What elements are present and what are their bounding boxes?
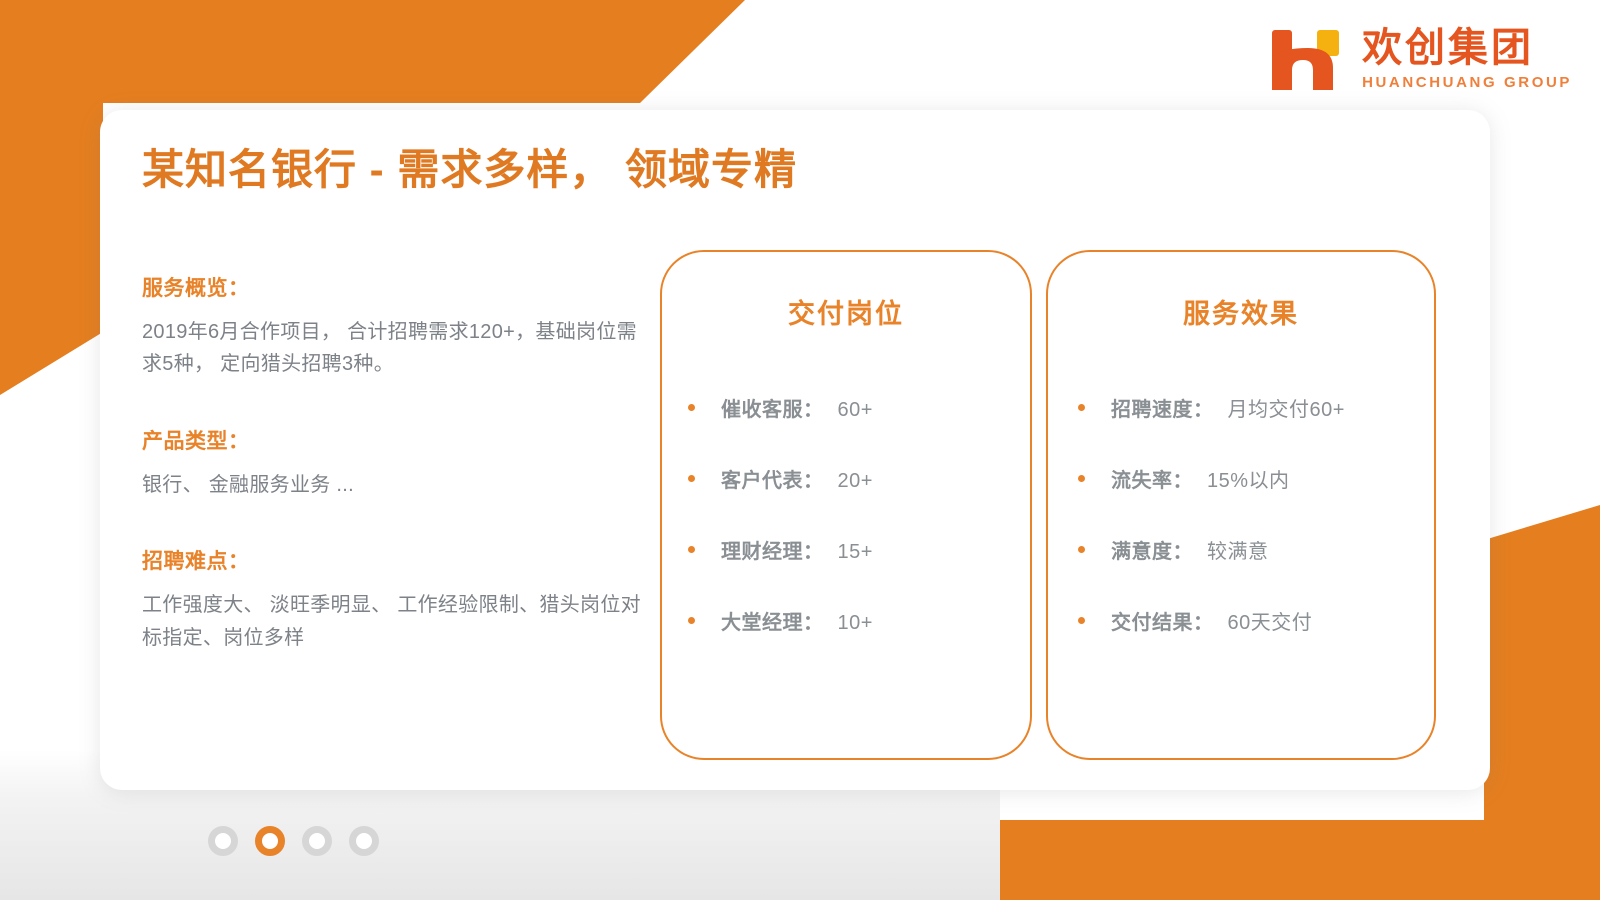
pagination-dot-4[interactable] [349, 826, 379, 856]
list-item: 流失率： 15%以内 [1078, 464, 1434, 493]
list-item: 客户代表： 20+ [688, 464, 1030, 493]
bullet-icon [688, 546, 695, 553]
panel-item-list: 催收客服： 60+ 客户代表： 20+ 理财经理： 15+ 大堂经理： 10+ [662, 393, 1030, 635]
list-item: 催收客服： 60+ [688, 393, 1030, 422]
info-block-recruit-difficulty: 招聘难点： 工作强度大、 淡旺季明显、 工作经验限制、猎头岗位对标指定、岗位多样 [142, 545, 652, 654]
page-title: 某知名银行 - 需求多样， 领域专精 [142, 136, 797, 197]
bullet-icon [688, 404, 695, 411]
item-key: 流失率： [1111, 464, 1193, 493]
panel-title: 服务效果 [1048, 292, 1434, 331]
list-item: 大堂经理： 10+ [688, 606, 1030, 635]
bullet-icon [1078, 475, 1085, 482]
pagination-dot-1[interactable] [208, 826, 238, 856]
pagination-dots[interactable] [208, 826, 379, 856]
list-item: 交付结果： 60天交付 [1078, 606, 1434, 635]
item-value: 15%以内 [1207, 464, 1290, 493]
logo-name-cn: 欢创集团 [1362, 28, 1534, 68]
slide-root: 欢创集团 HUANCHUANG GROUP 某知名银行 - 需求多样， 领域专精… [0, 0, 1600, 900]
item-value: 10+ [838, 612, 873, 635]
item-key: 客户代表： [721, 464, 824, 493]
info-column: 服务概览： 2019年6月合作项目， 合计招聘需求120+，基础岗位需求5种， … [142, 272, 652, 654]
bullet-icon [1078, 404, 1085, 411]
logo-name-en: HUANCHUANG GROUP [1362, 75, 1572, 90]
item-value: 月均交付60+ [1228, 393, 1345, 422]
info-text: 工作强度大、 淡旺季明显、 工作经验限制、猎头岗位对标指定、岗位多样 [142, 589, 652, 654]
brand-logo: 欢创集团 HUANCHUANG GROUP [1270, 26, 1572, 92]
info-label: 招聘难点： [142, 545, 652, 575]
logo-wordmark: 欢创集团 HUANCHUANG GROUP [1362, 28, 1572, 90]
info-label: 产品类型： [142, 425, 652, 455]
list-item: 满意度： 较满意 [1078, 535, 1434, 564]
item-value: 60天交付 [1228, 606, 1313, 635]
item-key: 理财经理： [721, 535, 824, 564]
huanchuang-h-mark-icon [1270, 26, 1348, 92]
info-block-service-overview: 服务概览： 2019年6月合作项目， 合计招聘需求120+，基础岗位需求5种， … [142, 272, 652, 381]
bullet-icon [688, 617, 695, 624]
bullet-icon [1078, 617, 1085, 624]
item-key: 催收客服： [721, 393, 824, 422]
pagination-dot-3[interactable] [302, 826, 332, 856]
item-key: 交付结果： [1111, 606, 1214, 635]
info-text: 银行、 金融服务业务 ... [142, 469, 652, 501]
item-key: 招聘速度： [1111, 393, 1214, 422]
panel-title: 交付岗位 [662, 292, 1030, 331]
bullet-icon [1078, 546, 1085, 553]
info-label: 服务概览： [142, 272, 652, 302]
bullet-icon [688, 475, 695, 482]
info-block-product-type: 产品类型： 银行、 金融服务业务 ... [142, 425, 652, 501]
shape-left-orange-column [0, 0, 103, 395]
item-value: 较满意 [1207, 535, 1269, 564]
item-key: 满意度： [1111, 535, 1193, 564]
item-key: 大堂经理： [721, 606, 824, 635]
item-value: 20+ [838, 470, 873, 493]
panel-delivered-positions: 交付岗位 催收客服： 60+ 客户代表： 20+ 理财经理： 15+ 大堂经理：… [660, 250, 1032, 760]
list-item: 招聘速度： 月均交付60+ [1078, 393, 1434, 422]
pagination-dot-2[interactable] [255, 826, 285, 856]
item-value: 15+ [838, 541, 873, 564]
shape-top-left-orange [0, 0, 745, 103]
list-item: 理财经理： 15+ [688, 535, 1030, 564]
item-value: 60+ [838, 399, 873, 422]
panel-item-list: 招聘速度： 月均交付60+ 流失率： 15%以内 满意度： 较满意 交付结果： … [1048, 393, 1434, 635]
panel-service-results: 服务效果 招聘速度： 月均交付60+ 流失率： 15%以内 满意度： 较满意 交… [1046, 250, 1436, 760]
info-text: 2019年6月合作项目， 合计招聘需求120+，基础岗位需求5种， 定向猎头招聘… [142, 316, 652, 381]
